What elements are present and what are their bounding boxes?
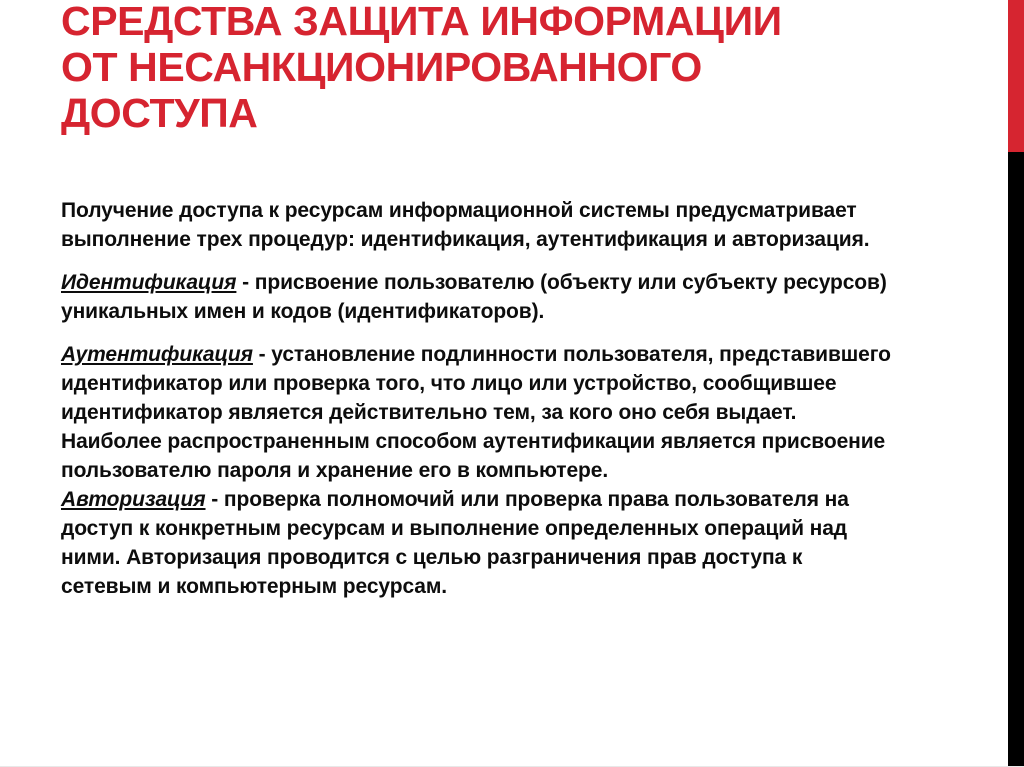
paragraph-authorization: Авторизация - проверка полномочий или пр…	[61, 485, 891, 601]
edge-accent-bar-red	[1008, 0, 1024, 152]
term-authentication: Аутентификация	[61, 343, 253, 366]
paragraph-intro-text: Получение доступа к ресурсам информацион…	[61, 199, 869, 251]
term-identification: Идентификация	[61, 271, 236, 294]
paragraph-intro: Получение доступа к ресурсам информацион…	[61, 196, 891, 254]
page-title: Средства защита информации от несанкцион…	[61, 0, 971, 136]
edge-accent-bar-black	[1008, 152, 1024, 766]
paragraph-authentication: Аутентификация - установление подлинност…	[61, 340, 891, 485]
paragraph-identification: Идентификация - присвоение пользователю …	[61, 268, 891, 326]
body-text-block: Получение доступа к ресурсам информацион…	[61, 196, 891, 601]
slide-canvas: Средства защита информации от несанкцион…	[0, 0, 1024, 767]
term-authorization: Авторизация	[61, 488, 206, 511]
